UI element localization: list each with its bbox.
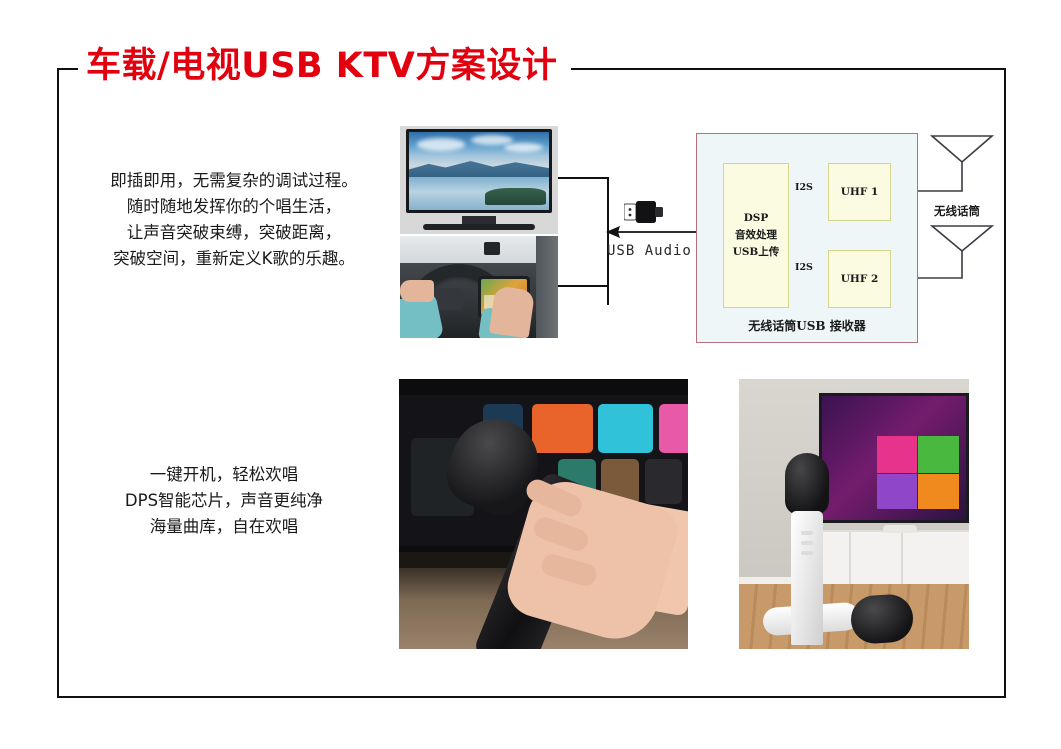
i2s-label-2: I2S [795,262,813,273]
intro-line-4: 突破空间，重新定义K歌的乐趣。 [74,246,394,272]
intro-line-1: 即插即用，无需复杂的调试过程。 [74,168,394,194]
car-pillar [536,236,558,338]
feature-line-1: 一键开机，轻松欢唱 [74,462,374,488]
dsp-label-3: USB上传 [733,244,780,261]
usb-connector-icon [624,200,666,224]
page-title-text: 车载/电视USB KTV方案设计 [86,49,557,84]
wall-mounted-tv [819,393,969,523]
feature-line-2: DPS智能芯片，声音更纯净 [74,488,374,514]
dsp-label-1: DSP [744,210,769,227]
diagram-block-uhf1: UHF 1 [828,163,891,221]
receiver-caption: 无线话筒USB 接收器 [697,317,917,334]
tv-stand-neck [462,216,496,224]
uhf1-label: UHF 1 [841,184,879,201]
diagram-block-dsp: DSP 音效处理 USB上传 [723,163,789,308]
tv-cabinet [809,530,969,584]
photo-microphones-living-room [739,379,969,649]
intro-paragraph: 即插即用，无需复杂的调试过程。 随时随地发挥你的个唱生活， 让声音突破束缚，突破… [74,168,394,272]
usb-audio-label: USB Audio [607,243,692,259]
photo-television [400,126,558,234]
microphone-one-foam-head [785,453,829,515]
photo-microphone-in-car [399,379,688,649]
photo-car-interior [400,236,558,338]
block-diagram-receiver: DSP 音效处理 USB上传 UHF 1 UHF 2 I2S I2S 无线话筒U… [696,133,918,343]
i2s-label-1: I2S [795,182,813,193]
intro-line-3: 让声音突破束缚，突破距离， [74,220,394,246]
diagram-block-uhf2: UHF 2 [828,250,891,308]
tv-stand-foot [423,224,535,230]
page-title: 车载/电视USB KTV方案设计 [78,42,571,90]
dsp-label-2: 音效处理 [735,227,777,244]
feature-line-3: 海量曲库，自在欢唱 [74,514,374,540]
tv-screen-image [409,132,549,210]
uhf2-label: UHF 2 [841,271,879,288]
features-paragraph: 一键开机，轻松欢唱 DPS智能芯片，声音更纯净 海量曲库，自在欢唱 [74,462,374,540]
car-driver-hand [400,280,434,302]
car-passenger-hand [489,285,535,338]
car-dashcam [484,242,500,255]
wireless-microphone-label: 无线话筒 [934,203,980,219]
intro-line-2: 随时随地发挥你的个唱生活， [74,194,394,220]
tv-bezel [406,129,552,213]
